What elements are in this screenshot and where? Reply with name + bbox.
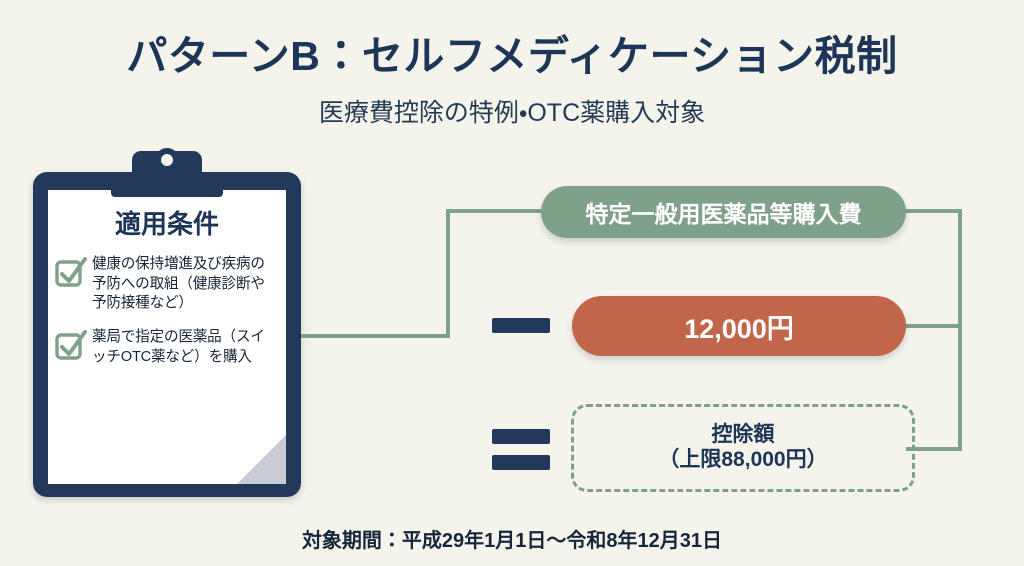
checkbox-checked-icon (54, 257, 88, 289)
page-title: パターンB：セルフメディケーション税制 (0, 22, 1024, 82)
deduction-cap: （上限88,000円） (658, 447, 827, 473)
paper-fold-corner-icon (237, 435, 286, 484)
conditions-heading: 適用条件 (48, 204, 286, 241)
clipboard-clip-ring-icon (155, 148, 179, 172)
list-item: 薬局で指定の医薬品（スイッチOTC薬など）を購入 (48, 328, 286, 367)
checkbox-checked-icon (54, 330, 88, 362)
equals-operator-icon-top (492, 429, 550, 444)
list-item: 健康の保持増進及び疾病の予防への取組（健康診断や予防接種など） (48, 255, 286, 314)
condition-text: 薬局で指定の医薬品（スイッチOTC薬など）を購入 (92, 328, 272, 367)
eligible-period-note: 対象期間：平成29年1月1日〜令和8年12月31日 (0, 524, 1024, 553)
condition-text: 健康の保持増進及び疾病の予防への取組（健康診断や予防接種など） (92, 255, 272, 314)
conditions-list: 健康の保持増進及び疾病の予防への取組（健康診断や予防接種など） 薬局で指定の医薬… (48, 255, 286, 381)
page-subtitle: 医療費控除の特例・OTC薬購入対象 (0, 93, 1024, 129)
infographic-canvas: パターンB：セルフメディケーション税制 医療費控除の特例・OTC薬購入対象 適用… (0, 0, 1024, 566)
deduction-result-box: 控除額 （上限88,000円） (571, 404, 915, 492)
equals-operator-icon-bottom (492, 455, 550, 470)
purchase-cost-pill: 特定一般用医薬品等購入費 (541, 186, 906, 238)
threshold-amount-pill: 12,000円 (572, 296, 906, 356)
deduction-label: 控除額 (712, 423, 775, 447)
minus-operator-icon (492, 318, 550, 333)
